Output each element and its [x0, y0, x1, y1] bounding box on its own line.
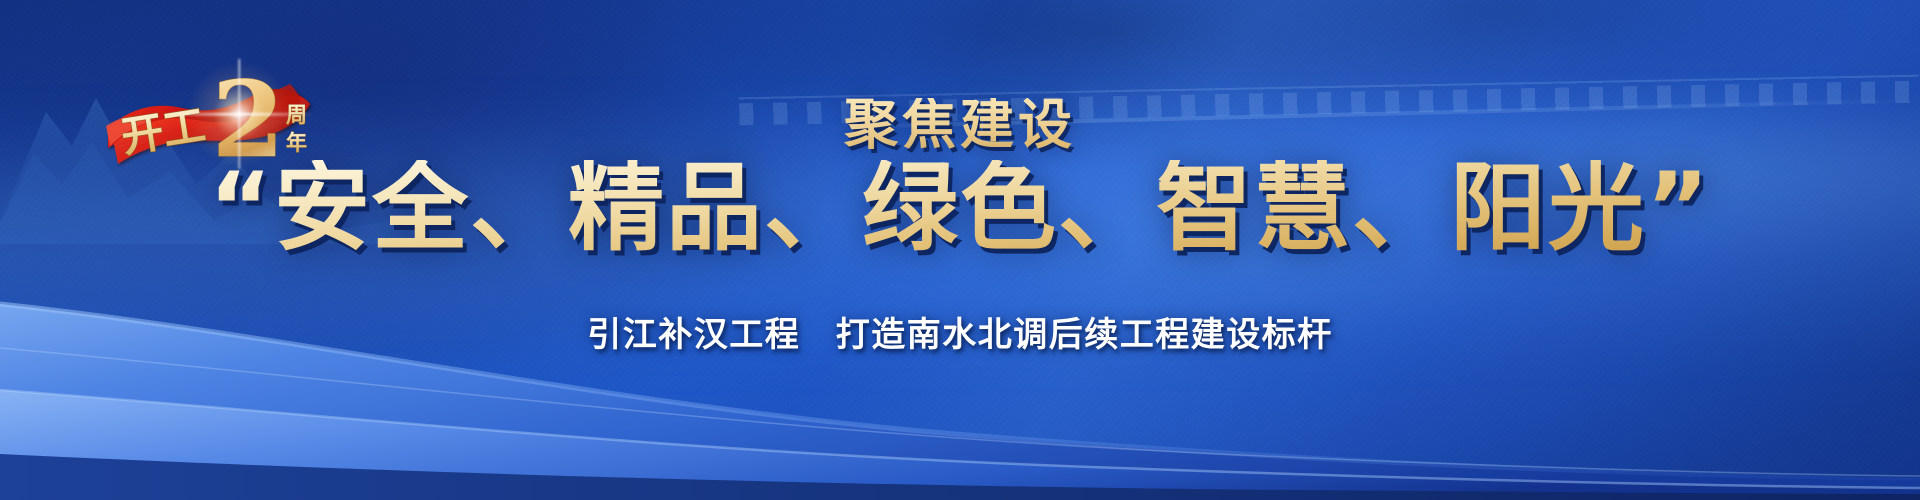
anniversary-logo: 开工 2 周 年	[104, 52, 334, 170]
svg-text:周: 周	[286, 103, 307, 127]
logo-kaigong-text: 开工	[118, 100, 209, 162]
bottom-wave-ribbons	[0, 240, 1920, 500]
anniversary-banner: 开工 2 周 年 聚焦建设 “安全、精品、绿色、智慧、阳光” 引江补汉工程 打造…	[0, 0, 1920, 500]
svg-text:2: 2	[212, 58, 284, 170]
svg-text:年: 年	[286, 131, 307, 155]
svg-text:开工: 开工	[118, 100, 209, 162]
logo-numeral-2: 2	[212, 58, 284, 170]
logo-zhounian-text: 周 年	[286, 103, 307, 155]
